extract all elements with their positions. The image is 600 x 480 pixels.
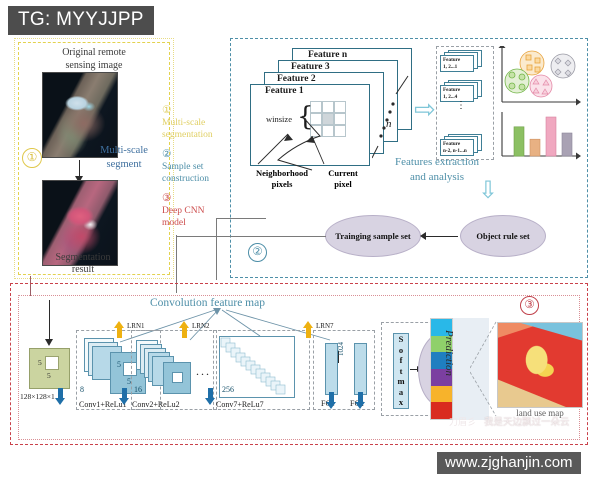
input-kernel-size-bottom: 5	[47, 371, 51, 380]
conv1-kernel-size-a: 5	[117, 360, 121, 369]
input-kernel-size-top: 5	[38, 358, 42, 367]
feature-card-3-label: Feature 3	[291, 62, 330, 72]
diagram-canvas: Original remote sensing image Multi-scal…	[0, 0, 600, 480]
legend-item-1: ① Multi-scale segmentation	[162, 104, 228, 141]
legend-item-2: ② Sample set construction	[162, 148, 228, 185]
conv2-label: Conv2+ReLu2	[132, 400, 180, 409]
feature-bar-chart	[498, 110, 582, 166]
depth-dots-n-label: n	[386, 118, 392, 130]
current-pixel-label: Current pixel	[320, 168, 366, 189]
mini-card-3-line2: n-2, n-1...n	[443, 148, 471, 155]
result-to-prediction-leaders	[470, 318, 500, 422]
mini-stack-ellipsis: ⋮	[456, 100, 466, 111]
legend-item-2-label-line1: Sample set	[162, 162, 228, 174]
softmax-char: a	[395, 387, 407, 398]
bar-4	[562, 133, 572, 156]
feature-card-2-label: Feature 2	[277, 74, 316, 84]
training-sample-set-label: Trainging sample set	[325, 231, 421, 241]
conv1-channels: 8	[80, 385, 84, 394]
lrn1-label: LRN1	[127, 322, 145, 330]
fc2-bar	[354, 343, 367, 395]
conv2-channels: 16	[134, 385, 142, 394]
legend-item-1-label-line2: segmentation	[162, 130, 228, 142]
mini-card-3: Feature n-2, n-1...n	[440, 139, 474, 156]
features-extraction-label-line1: Features extraction	[378, 155, 496, 170]
connector-p1-to-training-h	[176, 236, 326, 237]
conv7-channels: 256	[222, 385, 234, 394]
softmax-char: t	[395, 366, 407, 377]
legend-item-3-num: ③	[162, 192, 228, 206]
legend-color-swatch-5	[431, 386, 452, 403]
conv2-kernel-window	[172, 372, 183, 383]
segmentation-result-caption-line1: Segmentation	[26, 252, 140, 264]
mini-feature-stacks: Feature 1, 2...1 Feature 1, 2...4 Featur…	[440, 50, 494, 158]
legend-item-1-label-line1: Multi-scale	[162, 118, 228, 130]
segmentation-result-caption-line2: result	[26, 264, 140, 276]
prediction-label: Prediction	[443, 330, 455, 376]
softmax-char: S	[395, 334, 407, 345]
original-image-title-line1: Original remote	[30, 46, 158, 59]
input-dims-label: 128×128×1	[20, 392, 55, 401]
bar-1	[514, 127, 524, 156]
legend-item-2-num: ②	[162, 148, 228, 162]
connector-legend-h	[216, 218, 266, 219]
multiscale-segment-label-line2: segment	[84, 158, 164, 172]
bar-3	[546, 117, 556, 156]
softmax-char: m	[395, 376, 407, 387]
object-rule-set-label: Object rule set	[460, 231, 546, 241]
input-kernel-window	[45, 356, 59, 370]
annotation-leaders	[240, 92, 390, 176]
current-pixel-label-line1: Current	[320, 168, 366, 179]
panel-3-badge: ③	[520, 296, 539, 315]
fc1-units-label: 1024	[337, 342, 345, 356]
rules-to-training-arrow-line	[424, 236, 458, 237]
panel-1-badge: ①	[22, 148, 42, 168]
multiscale-segment-label: Multi-scale segment	[84, 144, 164, 172]
lrn2-label: LRN2	[192, 322, 210, 330]
flow-arrow-down-icon: ⇩	[478, 176, 498, 204]
legend-item-3-label-line1: Deep CNN	[162, 206, 228, 218]
mini-card-1: Feature 1, 2...1	[440, 55, 474, 72]
scatter-cluster-chart	[498, 46, 582, 110]
multiscale-segment-label-line1: Multi-scale	[84, 144, 164, 158]
legend-item-3: ③ Deep CNN model	[162, 192, 228, 229]
lrn7-label: LRN7	[316, 322, 334, 330]
original-image-title-line2: sensing image	[30, 59, 158, 72]
panel-2-badge: ②	[248, 243, 267, 262]
softmax-char: o	[395, 345, 407, 356]
neighborhood-pixels-label-line2: pixels	[250, 179, 314, 190]
legend-item-3-label-line2: model	[162, 218, 228, 230]
neighborhood-pixels-label-line1: Neighborhood	[250, 168, 314, 179]
watermark-top-left: TG: MYYJJPP	[8, 6, 154, 35]
conv7-label: Conv7+ReLu7	[216, 400, 264, 409]
layer-gap-dots: ...	[196, 364, 211, 379]
input-arrow-head	[45, 339, 53, 346]
feature-card-n-label: Feature n	[308, 50, 347, 60]
mini-card-1-line2: 1, 2...1	[443, 64, 471, 71]
watermark-chinese-logo: 刀眉彡	[449, 415, 476, 428]
flow-arrow-right-icon: ⇨	[414, 95, 436, 125]
original-image-title: Original remote sensing image	[30, 46, 158, 72]
segmentation-result-caption: Segmentation result	[26, 252, 140, 276]
watermark-chinese: 我是天边飘过一朵云	[484, 414, 570, 428]
input-arrow-line	[49, 300, 50, 342]
legend-item-1-num: ①	[162, 104, 228, 118]
softmax-char: x	[395, 397, 407, 408]
current-pixel-label-line2: pixel	[320, 179, 366, 190]
connector-legend-v	[216, 218, 217, 280]
neighborhood-pixels-label: Neighborhood pixels	[250, 168, 314, 189]
softmax-label: S o f t m a x	[395, 334, 407, 408]
watermark-bottom-right: www.zjghanjin.com	[437, 452, 581, 474]
rules-to-training-arrow-head	[420, 232, 426, 240]
bar-2	[530, 139, 540, 156]
legend-item-2-label-line2: construction	[162, 174, 228, 186]
legend: ① Multi-scale segmentation ② Sample set …	[162, 104, 228, 236]
land-use-map-image	[497, 322, 583, 408]
softmax-char: f	[395, 355, 407, 366]
